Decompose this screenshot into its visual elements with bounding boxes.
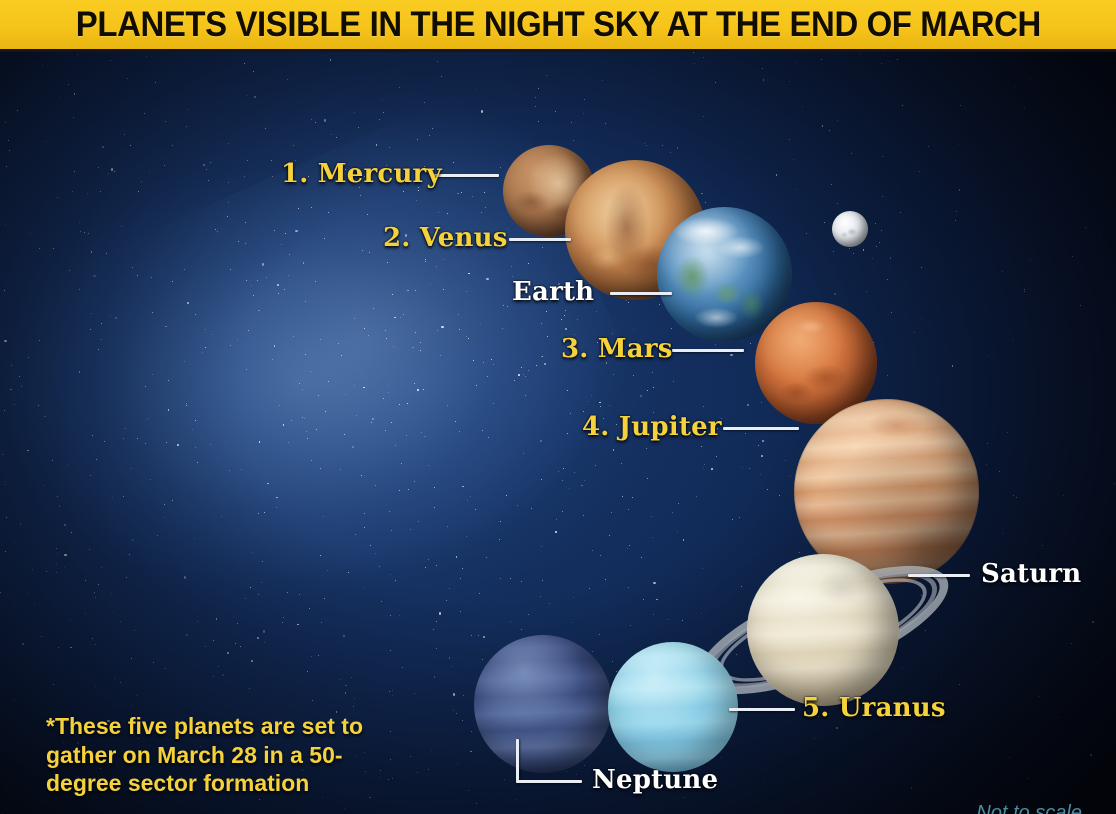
not-to-scale-note: Not to scale [976,802,1082,814]
leader-line-venus [509,238,571,241]
label-jupiter: 4. Jupiter [582,412,722,442]
leader-line-jupiter [723,427,799,430]
planet-uranus [608,642,738,772]
leader-line-mars [672,349,744,352]
label-uranus: 5. Uranus [802,693,946,723]
night-sky-background: 1. Mercury 2. Venus Earth 3. Mars 4. Jup… [0,52,1116,814]
moon [832,211,868,247]
leader-line-uranus [729,708,795,711]
label-mars: 3. Mars [561,334,673,364]
infographic-root: PLANETS VISIBLE IN THE NIGHT SKY AT THE … [0,0,1116,814]
leader-line-neptune-vertical [516,739,519,783]
leader-line-saturn [908,574,970,577]
page-title: PLANETS VISIBLE IN THE NIGHT SKY AT THE … [75,5,1040,45]
leader-line-neptune [516,780,582,783]
label-venus: 2. Venus [383,223,508,253]
title-banner: PLANETS VISIBLE IN THE NIGHT SKY AT THE … [0,0,1116,52]
label-neptune: Neptune [592,765,718,795]
planet-saturn [747,554,899,706]
label-earth: Earth [512,277,594,307]
planet-neptune [474,635,612,773]
footnote-text: *These five planets are set to gather on… [46,712,376,798]
label-mercury: 1. Mercury [281,159,442,189]
leader-line-earth [610,292,672,295]
label-saturn: Saturn [981,559,1081,589]
